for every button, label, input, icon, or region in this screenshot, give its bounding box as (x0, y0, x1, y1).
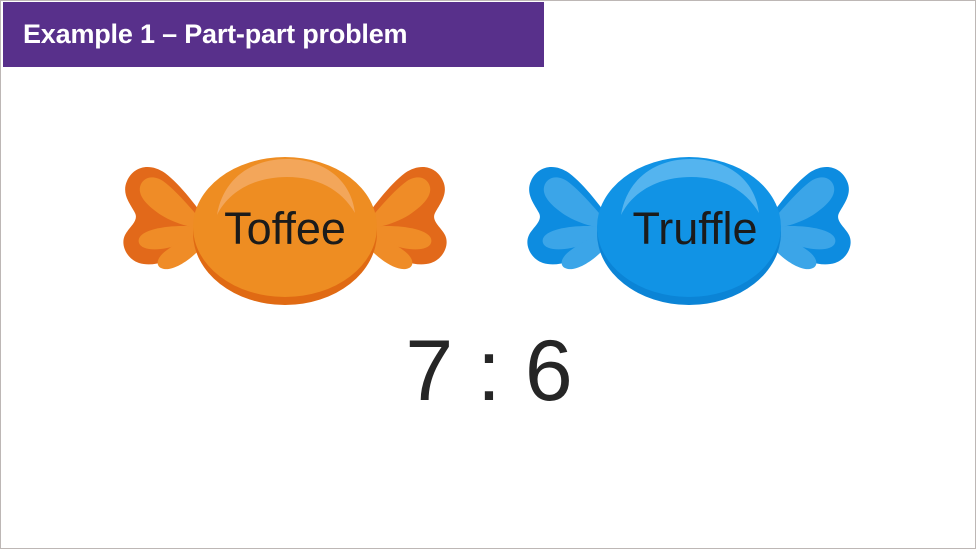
page-title: Example 1 – Part-part problem (3, 19, 407, 50)
candy-icon (105, 149, 465, 309)
sweet-truffle: Truffle (509, 149, 869, 309)
title-banner: Example 1 – Part-part problem (3, 2, 544, 67)
slide-canvas: Example 1 – Part-part problem Toffee (0, 0, 976, 549)
ratio-expression: 7 : 6 (1, 328, 976, 414)
sweet-toffee: Toffee (105, 149, 465, 309)
candy-icon (509, 149, 869, 309)
